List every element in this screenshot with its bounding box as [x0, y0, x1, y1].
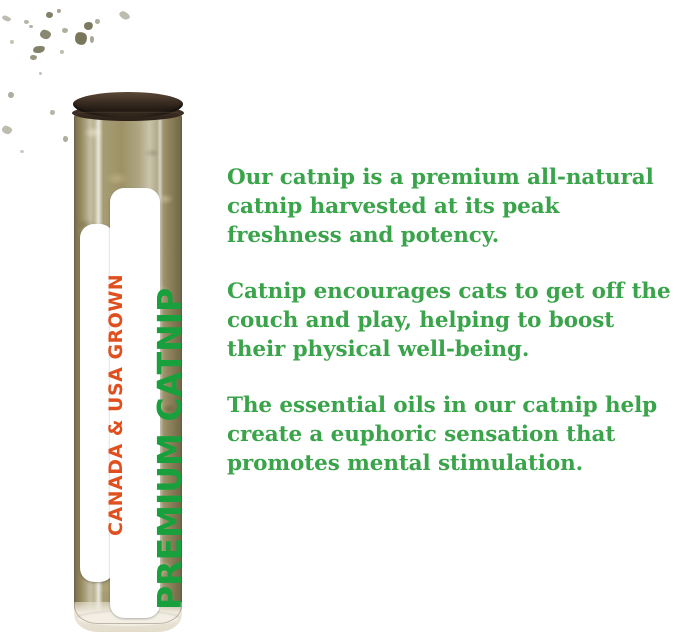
catnip-flake: [50, 110, 55, 115]
catnip-flake: [95, 19, 100, 24]
product-label: CANADA & USA GROWN PREMIUM CATNIP: [80, 188, 176, 618]
catnip-flake: [46, 12, 53, 18]
label-title-text: PREMIUM CATNIP: [150, 288, 189, 610]
catnip-flake: [83, 21, 94, 31]
catnip-flake: [74, 31, 88, 46]
catnip-flake: [63, 136, 68, 142]
product-marketing-image: CANADA & USA GROWN PREMIUM CATNIP Our ca…: [0, 0, 679, 643]
copy-paragraph-1: Our catnip is a premium all-natural catn…: [227, 163, 679, 250]
catnip-flake: [1, 15, 11, 23]
catnip-flake: [32, 45, 45, 54]
catnip-flake: [8, 92, 14, 98]
catnip-tube: CANADA & USA GROWN PREMIUM CATNIP: [70, 92, 186, 632]
catnip-flake: [90, 36, 94, 43]
catnip-flake: [118, 10, 131, 21]
catnip-flake: [20, 150, 24, 153]
catnip-flake: [1, 125, 13, 135]
copy-paragraph-3: The essential oils in our catnip help cr…: [227, 391, 679, 478]
marketing-copy: Our catnip is a premium all-natural catn…: [227, 163, 679, 478]
catnip-flake: [57, 9, 61, 13]
copy-paragraph-2: Catnip encourages cats to get off the co…: [227, 277, 679, 364]
catnip-flake: [29, 25, 33, 28]
catnip-flake: [62, 28, 68, 33]
catnip-flake: [30, 55, 37, 60]
catnip-flake: [39, 29, 52, 40]
catnip-flake: [60, 50, 64, 54]
catnip-flake: [10, 40, 14, 44]
catnip-flake: [24, 20, 29, 24]
label-origin-text: CANADA & USA GROWN: [105, 274, 127, 536]
catnip-flake: [39, 72, 42, 75]
